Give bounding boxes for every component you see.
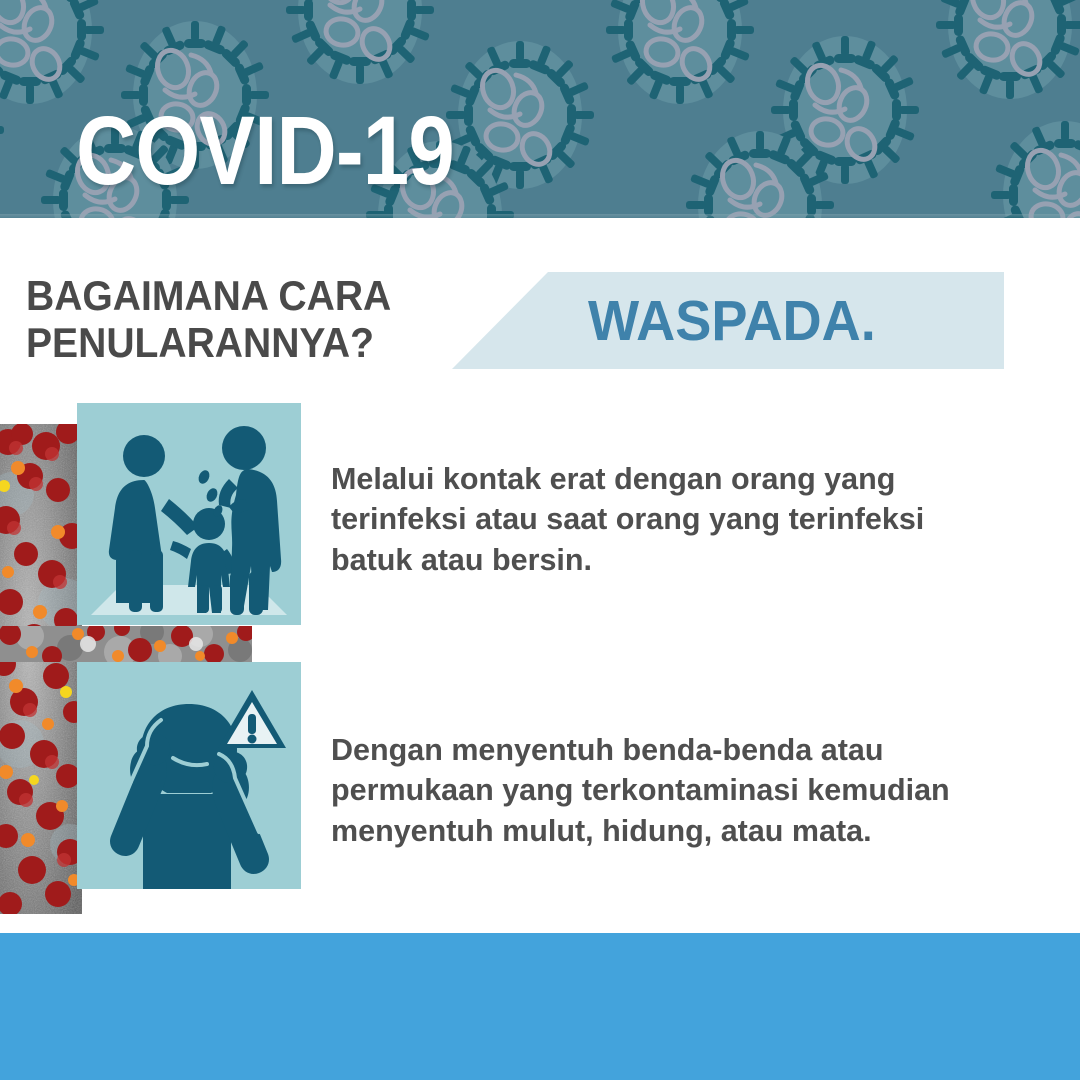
sars-cov-2-virus-particle-photo-band xyxy=(0,626,252,662)
family-with-coughing-person-icon xyxy=(77,403,301,625)
poster-header: COVID-19 xyxy=(0,0,1080,218)
header-divider xyxy=(0,214,1080,218)
poster-footer: World Health Organization Indonesia WASP… xyxy=(0,933,1080,1080)
waspada-label: WASPADA. xyxy=(588,288,876,354)
sars-cov-2-virus-particle-photo xyxy=(0,424,82,914)
transmission-text-2: Dengan menyentuh benda-benda atau permuk… xyxy=(331,730,1021,851)
transmission-text-1: Melalui kontak erat dengan orang yang te… xyxy=(331,459,981,580)
covid19-transmission-poster: COVID-19 BAGAIMANA CARA PENULARANNYA? WA… xyxy=(0,0,1080,1080)
question-heading: BAGAIMANA CARA PENULARANNYA? xyxy=(26,272,426,366)
page-title: COVID-19 xyxy=(76,105,454,197)
person-touching-face-warning-icon xyxy=(77,662,301,889)
